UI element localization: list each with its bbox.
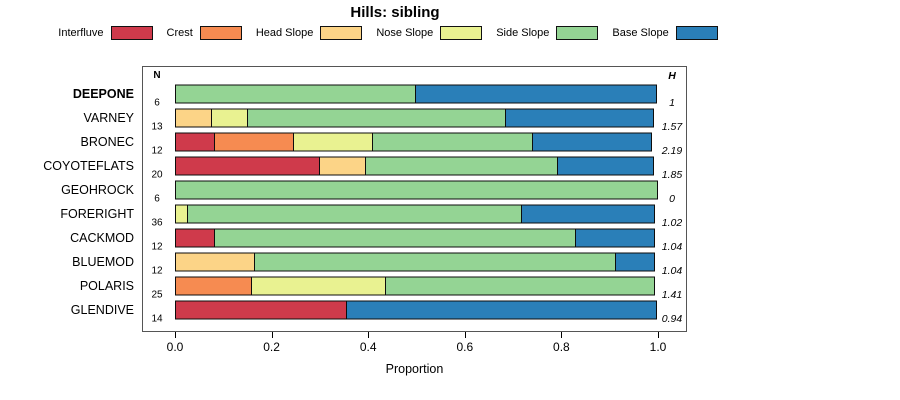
x-tick [272, 332, 273, 338]
bar-segment-side-slope[interactable] [175, 181, 658, 200]
legend-item-nose-slope[interactable]: Nose Slope [376, 26, 482, 40]
stacked-bar[interactable] [175, 157, 658, 176]
bar-segment-head-slope[interactable] [319, 157, 367, 176]
chart-legend: InterfluveCrestHead SlopeNose SlopeSide … [0, 26, 790, 40]
legend-label: Interfluve [58, 27, 103, 39]
stacked-bar[interactable] [175, 109, 658, 128]
x-tick-label: 0.2 [263, 340, 280, 354]
stacked-bar[interactable] [175, 205, 658, 224]
legend-label: Nose Slope [376, 27, 433, 39]
stacked-bar[interactable] [175, 277, 658, 296]
x-tick [368, 332, 369, 338]
x-tick-label: 0.6 [456, 340, 473, 354]
y-axis-label-varney: VARNEY [84, 111, 134, 125]
bar-segment-nose-slope[interactable] [251, 277, 386, 296]
bar-segment-base-slope[interactable] [615, 253, 655, 272]
y-axis-label-bronec: BRONEC [81, 135, 134, 149]
y-axis-labels: DEEPONEVARNEYBRONECCOYOTEFLATSGEOHROCKFO… [0, 66, 138, 332]
legend-swatch [556, 26, 598, 40]
bar-segment-side-slope[interactable] [187, 205, 522, 224]
x-tick-label: 0.0 [167, 340, 184, 354]
bar-segment-head-slope[interactable] [175, 253, 256, 272]
bar-segment-base-slope[interactable] [415, 85, 657, 104]
x-tick-label: 0.8 [553, 340, 570, 354]
legend-item-interfluve[interactable]: Interfluve [58, 26, 152, 40]
y-axis-label-polaris: POLARIS [80, 279, 134, 293]
x-tick-label: 0.4 [360, 340, 377, 354]
stacked-bar[interactable] [175, 133, 658, 152]
legend-swatch [320, 26, 362, 40]
x-tick [465, 332, 466, 338]
chart-canvas: Hills: sibling InterfluveCrestHead Slope… [0, 0, 900, 400]
bar-segment-interfluve[interactable] [175, 157, 320, 176]
bar-segment-side-slope[interactable] [365, 157, 558, 176]
stacked-bar[interactable] [175, 253, 658, 272]
stacked-bar[interactable] [175, 301, 658, 320]
bar-segment-base-slope[interactable] [346, 301, 657, 320]
y-axis-label-cackmod: CACKMOD [70, 231, 134, 245]
stacked-bar[interactable] [175, 85, 658, 104]
y-axis-label-deepone: DEEPONE [73, 87, 134, 101]
bar-segment-base-slope[interactable] [521, 205, 655, 224]
bar-segment-side-slope[interactable] [247, 109, 507, 128]
bar-segment-side-slope[interactable] [175, 85, 417, 104]
legend-item-crest[interactable]: Crest [167, 26, 242, 40]
bar-segment-side-slope[interactable] [385, 277, 655, 296]
x-axis-title: Proportion [142, 362, 687, 376]
x-axis: 0.00.20.40.60.81.0 [142, 332, 687, 362]
bar-segment-side-slope[interactable] [214, 229, 576, 248]
legend-item-base-slope[interactable]: Base Slope [612, 26, 717, 40]
bar-segment-crest[interactable] [214, 133, 295, 152]
legend-item-head-slope[interactable]: Head Slope [256, 26, 363, 40]
bar-segment-head-slope[interactable] [175, 109, 212, 128]
legend-label: Head Slope [256, 27, 314, 39]
stacked-bar[interactable] [175, 181, 658, 200]
bar-segment-crest[interactable] [175, 277, 252, 296]
bar-segment-base-slope[interactable] [505, 109, 654, 128]
bar-segment-base-slope[interactable] [532, 133, 653, 152]
bar-segment-interfluve[interactable] [175, 133, 215, 152]
x-tick [175, 332, 176, 338]
y-axis-label-foreright: FORERIGHT [60, 207, 134, 221]
chart-title: Hills: sibling [0, 4, 790, 21]
legend-swatch [676, 26, 718, 40]
bar-segment-side-slope[interactable] [254, 253, 616, 272]
y-axis-label-coyoteflats: COYOTEFLATS [43, 159, 134, 173]
legend-label: Crest [167, 27, 193, 39]
bar-segment-base-slope[interactable] [575, 229, 656, 248]
bar-segment-side-slope[interactable] [372, 133, 533, 152]
bar-segment-base-slope[interactable] [557, 157, 654, 176]
x-tick [561, 332, 562, 338]
x-tick [658, 332, 659, 338]
legend-swatch [440, 26, 482, 40]
legend-item-side-slope[interactable]: Side Slope [496, 26, 598, 40]
bar-segment-interfluve[interactable] [175, 229, 215, 248]
legend-label: Base Slope [612, 27, 668, 39]
legend-label: Side Slope [496, 27, 549, 39]
legend-swatch [200, 26, 242, 40]
bar-segment-nose-slope[interactable] [293, 133, 374, 152]
y-axis-label-bluemod: BLUEMOD [72, 255, 134, 269]
stacked-bar[interactable] [175, 229, 658, 248]
legend-swatch [111, 26, 153, 40]
y-axis-label-geohrock: GEOHROCK [61, 183, 134, 197]
bar-segment-interfluve[interactable] [175, 301, 347, 320]
bars-layer [142, 66, 687, 332]
bar-segment-nose-slope[interactable] [211, 109, 248, 128]
x-tick-label: 1.0 [650, 340, 667, 354]
y-axis-label-glendive: GLENDIVE [71, 303, 134, 317]
dendrogram [690, 60, 900, 360]
